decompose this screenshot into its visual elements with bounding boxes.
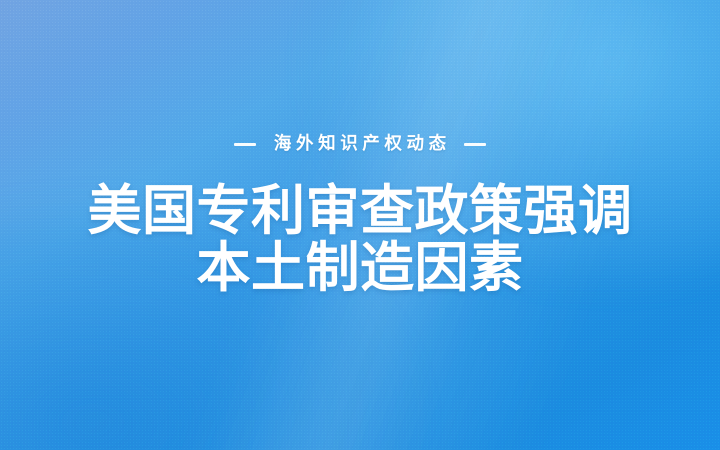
promo-banner: 海外知识产权动态 美国专利审查政策强调 本土制造因素 [0,0,720,450]
banner-content: 海外知识产权动态 美国专利审查政策强调 本土制造因素 [0,0,720,450]
dash-left-icon [234,143,256,146]
eyebrow-category: 海外知识产权动态 [234,131,485,157]
dash-right-icon [464,143,486,146]
page-title: 美国专利审查政策强调 本土制造因素 [88,183,633,297]
page-title-line-2: 本土制造因素 [88,240,633,297]
eyebrow-label: 海外知识产权动态 [269,135,450,153]
page-title-line-1: 美国专利审查政策强调 [88,183,633,240]
